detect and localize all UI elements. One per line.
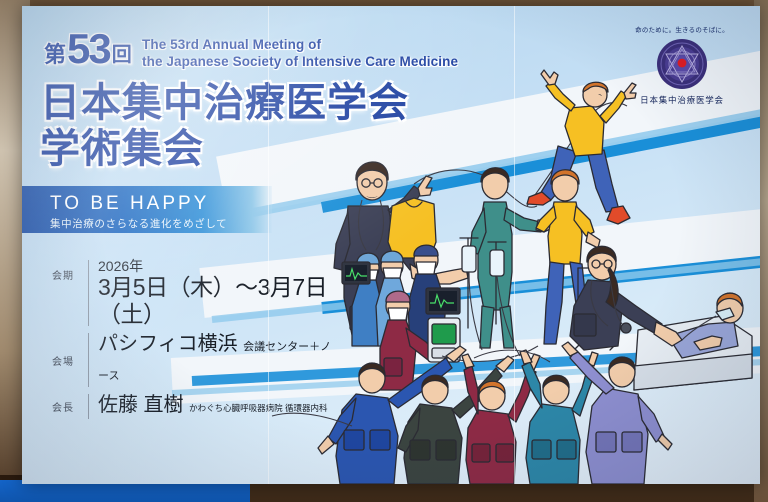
- info-year: 2026年: [98, 258, 342, 274]
- tagline-sub: 集中治療のさらなる進化をめざして: [50, 216, 227, 231]
- poster-seam-right: [514, 6, 515, 484]
- info-label-chair: 会長: [52, 399, 88, 414]
- info-divider: [88, 333, 89, 387]
- japanese-title-line2: 学術集会: [40, 126, 409, 172]
- society-logo: 命のために。生きるのそばに。 日本集中治療医学会: [622, 24, 742, 106]
- info-chair-affiliation: かわぐち心臓呼吸器病院 循環器内科: [189, 403, 327, 413]
- english-title-line1: The 53rd Annual Meeting of: [142, 36, 458, 53]
- logo-slogan: 命のために。生きるのそばに。: [622, 24, 742, 34]
- edition-badge: 第 53 回: [44, 28, 131, 70]
- info-chair: 佐藤 直樹: [98, 394, 184, 416]
- japanese-title: 日本集中治療医学会 学術集会: [40, 80, 409, 172]
- logo-society-name: 日本集中治療医学会: [622, 94, 742, 106]
- info-dates: 3月5日（木）～3月7日（土）: [98, 274, 342, 328]
- english-title: The 53rd Annual Meeting of the Japanese …: [142, 36, 458, 70]
- tagline-band: TO BE HAPPY 集中治療のさらなる進化をめざして: [22, 186, 272, 233]
- poster-surface: .o{stroke:#2b2b33;stroke-width:1.3;strok…: [22, 6, 760, 484]
- tagline-main: TO BE HAPPY: [50, 193, 209, 215]
- info-divider: [88, 260, 89, 326]
- info-row-dates: 会期 2026年 3月5日（木）～3月7日（土）: [52, 258, 342, 328]
- edition-number: 53: [67, 28, 110, 70]
- japanese-title-line1: 日本集中治療医学会: [40, 81, 409, 125]
- info-row-venue: 会場 パシフィコ横浜 会議センター＋ノース: [52, 331, 342, 389]
- info-label-dates: 会期: [52, 258, 88, 282]
- info-label-venue: 会場: [52, 353, 88, 368]
- info-row-chair: 会長 佐藤 直樹 かわぐち心臓呼吸器病院 循環器内科: [52, 392, 342, 421]
- info-venue: パシフィコ横浜: [98, 333, 238, 355]
- scene-jumping-person: [527, 70, 636, 224]
- english-title-line2: the Japanese Society of Intensive Care M…: [142, 53, 458, 70]
- photo-scene: .o{stroke:#2b2b33;stroke-width:1.3;strok…: [0, 0, 768, 502]
- edition-suffix: 回: [112, 40, 131, 70]
- edition-prefix: 第: [44, 40, 65, 70]
- info-divider: [88, 394, 89, 419]
- scene-bedside-exam: [570, 246, 752, 390]
- poster-seam-left: [268, 6, 269, 484]
- jsicm-emblem-icon: [656, 38, 708, 90]
- event-info: 会期 2026年 3月5日（木）～3月7日（土） 会場 パシフィコ横浜 会議セン…: [52, 258, 342, 424]
- conference-poster: .o{stroke:#2b2b33;stroke-width:1.3;strok…: [22, 6, 760, 484]
